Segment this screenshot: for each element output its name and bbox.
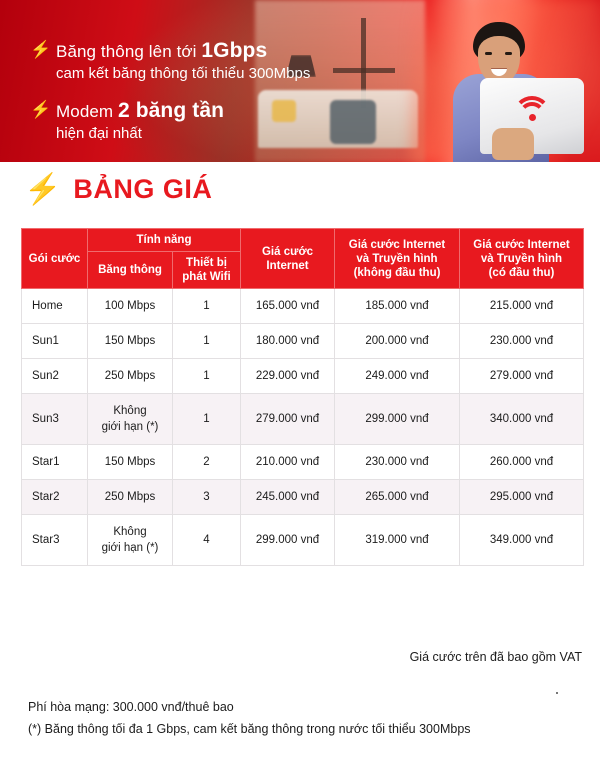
cell-internet-tv-with-receiver: 260.000 vnđ: [460, 445, 584, 480]
lightning-bolt-icon: ⚡: [24, 175, 61, 205]
banner-bullet-2-line1: Modem 2 băng tần: [56, 100, 224, 123]
cell-internet-tv-no-receiver: 200.000 vnđ: [335, 324, 460, 359]
cell-bandwidth-line1: 250 Mbps: [90, 368, 170, 384]
header-internet-price-line1: Giá cước: [243, 245, 332, 259]
cell-bandwidth: 250 Mbps: [88, 359, 173, 394]
price-table: Gói cước Tính năng Giá cước Internet Giá…: [21, 228, 584, 566]
cell-internet-tv-with-receiver: 295.000 vnđ: [460, 480, 584, 515]
promo-banner: ⚡ Băng thông lên tới 1Gbps cam kết băng …: [0, 0, 600, 162]
header-row-1: Gói cước Tính năng Giá cước Internet Giá…: [22, 229, 584, 252]
header-wifi-device-line1: Thiết bị: [175, 256, 238, 270]
cell-wifi-devices: 4: [173, 515, 241, 566]
banner-bullet-2-line2: hiện đại nhất: [56, 123, 224, 144]
person-face: [478, 36, 520, 84]
header-internet-tv-with-receiver-line3: (có đầu thu): [462, 266, 581, 280]
cell-package: Sun1: [22, 324, 88, 359]
cell-internet-tv-no-receiver: 230.000 vnđ: [335, 445, 460, 480]
cell-bandwidth-line1: 150 Mbps: [90, 454, 170, 470]
cell-internet-price: 279.000 vnđ: [241, 394, 335, 445]
asterisk-note: (*) Băng thông tối đa 1 Gbps, cam kết bă…: [28, 718, 471, 740]
table-row: Home100 Mbps1165.000 vnđ185.000 vnđ215.0…: [22, 289, 584, 324]
cell-internet-tv-no-receiver: 265.000 vnđ: [335, 480, 460, 515]
price-table-body: Home100 Mbps1165.000 vnđ185.000 vnđ215.0…: [22, 289, 584, 566]
header-internet-tv-no-receiver-line3: (không đầu thu): [337, 266, 457, 280]
header-internet-tv-no-receiver: Giá cước Internet và Truyền hình (không …: [335, 229, 460, 289]
wifi-icon: [515, 96, 549, 122]
cell-internet-tv-with-receiver: 349.000 vnđ: [460, 515, 584, 566]
cell-wifi-devices: 2: [173, 445, 241, 480]
cell-bandwidth-line1: Không: [90, 403, 170, 419]
cell-bandwidth: 250 Mbps: [88, 480, 173, 515]
header-internet-price-line2: Internet: [243, 259, 332, 273]
cell-package: Home: [22, 289, 88, 324]
setup-fee-note: Phí hòa mạng: 300.000 vnđ/thuê bao: [28, 696, 471, 718]
header-internet-tv-no-receiver-line2: và Truyền hình: [337, 252, 457, 266]
cell-wifi-devices: 3: [173, 480, 241, 515]
cell-bandwidth-line2: giới hạn (*): [90, 419, 170, 435]
cell-internet-tv-no-receiver: 299.000 vnđ: [335, 394, 460, 445]
cell-internet-tv-with-receiver: 279.000 vnđ: [460, 359, 584, 394]
table-row: Sun2250 Mbps1229.000 vnđ249.000 vnđ279.0…: [22, 359, 584, 394]
cell-internet-price: 245.000 vnđ: [241, 480, 335, 515]
cell-bandwidth: Khônggiới hạn (*): [88, 515, 173, 566]
cell-internet-price: 210.000 vnđ: [241, 445, 335, 480]
banner-bullet-1-line2: cam kết băng thông tối thiểu 300Mbps: [56, 63, 310, 84]
footer-notes: Phí hòa mạng: 300.000 vnđ/thuê bao (*) B…: [28, 696, 471, 740]
cell-package: Sun2: [22, 359, 88, 394]
cell-internet-price: 229.000 vnđ: [241, 359, 335, 394]
wifi-dot: [529, 114, 536, 121]
cell-bandwidth-line2: giới hạn (*): [90, 540, 170, 556]
banner-bullet-1-line1: Băng thông lên tới 1Gbps: [56, 40, 310, 63]
cell-wifi-devices: 1: [173, 394, 241, 445]
page-title: BẢNG GIÁ: [73, 174, 212, 205]
header-internet-tv-with-receiver-line1: Giá cước Internet: [462, 238, 581, 252]
header-bandwidth: Băng thông: [88, 252, 173, 289]
cell-package: Star3: [22, 515, 88, 566]
cell-bandwidth-line1: 150 Mbps: [90, 333, 170, 349]
cell-internet-tv-no-receiver: 249.000 vnđ: [335, 359, 460, 394]
table-row: Sun3Khônggiới hạn (*)1279.000 vnđ299.000…: [22, 394, 584, 445]
banner-bullet-2: ⚡ Modem 2 băng tần hiện đại nhất: [30, 100, 310, 144]
price-section-title: ⚡ BẢNG GIÁ: [24, 174, 212, 205]
header-features-group: Tính năng: [88, 229, 241, 252]
cell-bandwidth: 100 Mbps: [88, 289, 173, 324]
cell-bandwidth-line1: 250 Mbps: [90, 489, 170, 505]
banner-bullet-2-prefix: Modem: [56, 102, 118, 121]
banner-bullet-2-text: Modem 2 băng tần hiện đại nhất: [56, 100, 224, 144]
header-wifi-device-line2: phát Wifi: [175, 270, 238, 284]
lightning-bolt-icon: ⚡: [30, 100, 44, 120]
header-internet-price: Giá cước Internet: [241, 229, 335, 289]
banner-bullet-1-prefix: Băng thông lên tới: [56, 42, 201, 61]
cell-bandwidth: 150 Mbps: [88, 445, 173, 480]
cell-package: Star1: [22, 445, 88, 480]
vat-note: Giá cước trên đã bao gồm VAT: [410, 650, 582, 664]
cell-bandwidth-line1: 100 Mbps: [90, 298, 170, 314]
header-internet-tv-with-receiver-line2: và Truyền hình: [462, 252, 581, 266]
person-holding-hand: [492, 128, 534, 160]
stray-dot-artifact: [556, 692, 558, 694]
price-table-header: Gói cước Tính năng Giá cước Internet Giá…: [22, 229, 584, 289]
cell-internet-price: 165.000 vnđ: [241, 289, 335, 324]
header-wifi-device: Thiết bị phát Wifi: [173, 252, 241, 289]
table-row: Sun1150 Mbps1180.000 vnđ200.000 vnđ230.0…: [22, 324, 584, 359]
header-internet-tv-no-receiver-line1: Giá cước Internet: [337, 238, 457, 252]
banner-bullet-1-text: Băng thông lên tới 1Gbps cam kết băng th…: [56, 40, 310, 84]
banner-bullet-1: ⚡ Băng thông lên tới 1Gbps cam kết băng …: [30, 40, 310, 84]
header-package: Gói cước: [22, 229, 88, 289]
header-internet-tv-with-receiver: Giá cước Internet và Truyền hình (có đầu…: [460, 229, 584, 289]
cell-internet-tv-with-receiver: 230.000 vnđ: [460, 324, 584, 359]
cell-wifi-devices: 1: [173, 359, 241, 394]
cell-internet-tv-no-receiver: 319.000 vnđ: [335, 515, 460, 566]
cell-internet-tv-with-receiver: 215.000 vnđ: [460, 289, 584, 324]
cell-internet-tv-no-receiver: 185.000 vnđ: [335, 289, 460, 324]
cell-wifi-devices: 1: [173, 324, 241, 359]
cell-bandwidth: Khônggiới hạn (*): [88, 394, 173, 445]
person-eye-left: [485, 52, 492, 55]
cell-wifi-devices: 1: [173, 289, 241, 324]
banner-bullet-2-strong: 2 băng tần: [118, 99, 224, 122]
cell-internet-price: 299.000 vnđ: [241, 515, 335, 566]
table-row: Star1150 Mbps2210.000 vnđ230.000 vnđ260.…: [22, 445, 584, 480]
person-eye-right: [505, 52, 512, 55]
cell-package: Star2: [22, 480, 88, 515]
cell-internet-tv-with-receiver: 340.000 vnđ: [460, 394, 584, 445]
cell-internet-price: 180.000 vnđ: [241, 324, 335, 359]
banner-copy: ⚡ Băng thông lên tới 1Gbps cam kết băng …: [30, 40, 310, 160]
cell-bandwidth: 150 Mbps: [88, 324, 173, 359]
table-row: Star3Khônggiới hạn (*)4299.000 vnđ319.00…: [22, 515, 584, 566]
banner-bullet-1-strong: 1Gbps: [201, 39, 267, 62]
lightning-bolt-icon: ⚡: [30, 40, 44, 60]
table-row: Star2250 Mbps3245.000 vnđ265.000 vnđ295.…: [22, 480, 584, 515]
cell-bandwidth-line1: Không: [90, 524, 170, 540]
cell-package: Sun3: [22, 394, 88, 445]
